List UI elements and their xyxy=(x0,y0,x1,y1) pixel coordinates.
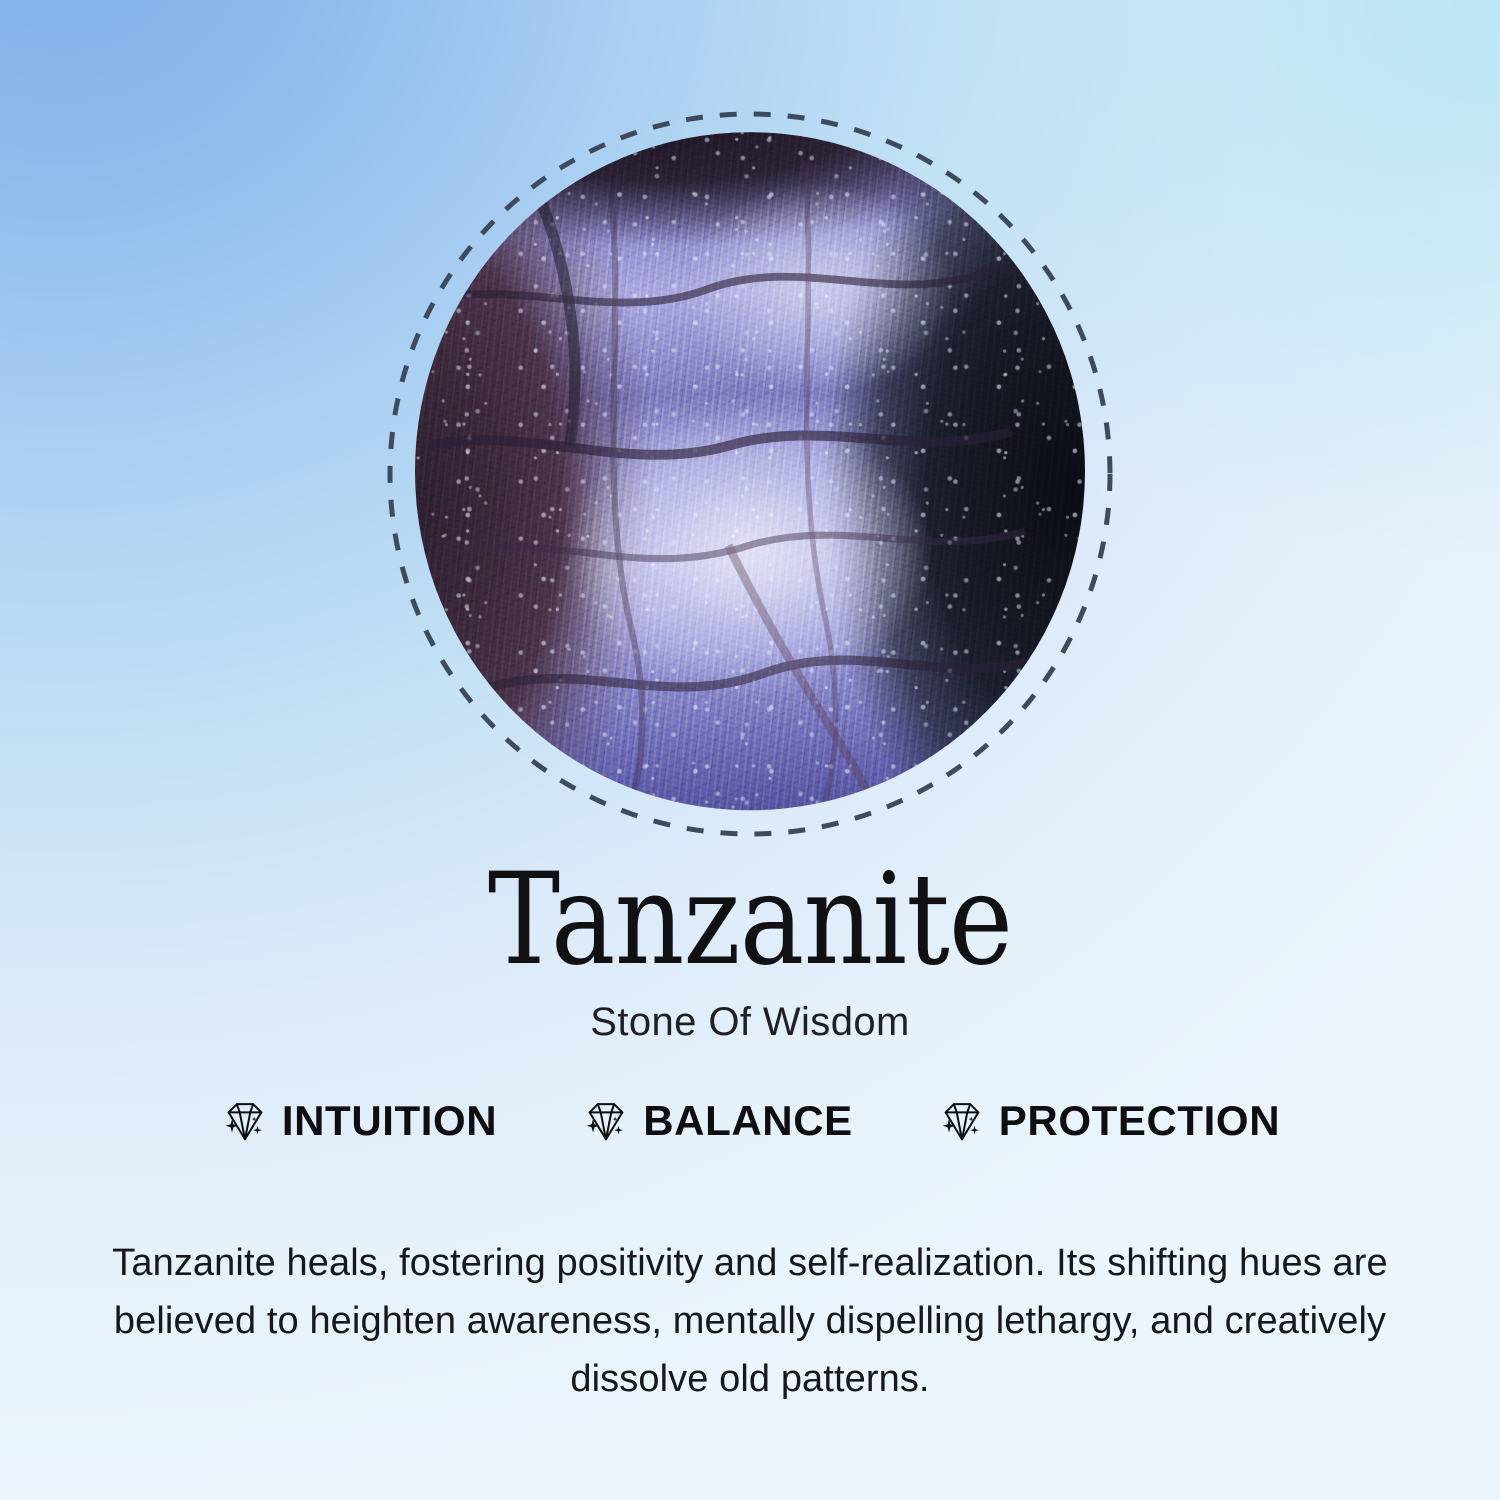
gemstone-description: Tanzanite heals, fostering positivity an… xyxy=(96,1235,1404,1408)
badge-label: BALANCE xyxy=(643,1097,853,1145)
gemstone-medallion xyxy=(387,111,1113,837)
tanzanite-crystal xyxy=(415,132,1085,810)
badge-label: PROTECTION xyxy=(999,1097,1280,1145)
badge-protection: PROTECTION xyxy=(937,1096,1280,1146)
diamond-gem-icon xyxy=(220,1096,270,1146)
badge-intuition: INTUITION xyxy=(220,1096,497,1146)
gemstone-photo xyxy=(415,132,1085,810)
gemstone-info-card: Tanzanite Stone Of Wisdom xyxy=(0,0,1500,1500)
attribute-badges: INTUITION xyxy=(0,1096,1500,1146)
gemstone-title: Tanzanite xyxy=(105,857,1395,983)
gemstone-subtitle: Stone Of Wisdom xyxy=(0,1000,1500,1045)
diamond-gem-icon xyxy=(937,1096,987,1146)
badge-balance: BALANCE xyxy=(581,1096,853,1146)
diamond-gem-icon xyxy=(581,1096,631,1146)
badge-label: INTUITION xyxy=(282,1097,497,1145)
crystal-fracture-seams xyxy=(415,132,1085,810)
